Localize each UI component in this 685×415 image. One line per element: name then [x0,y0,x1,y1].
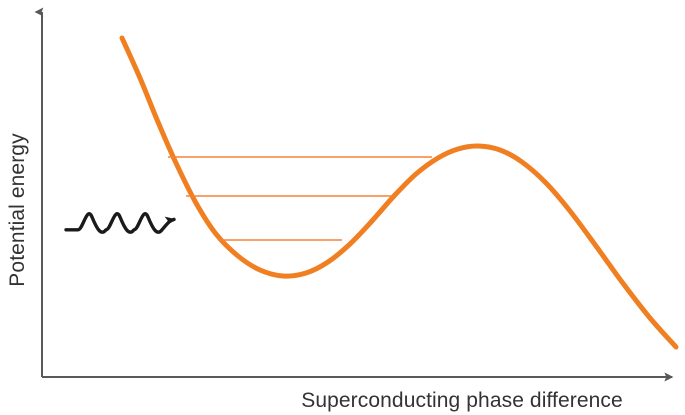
photon-wave-path [66,214,174,232]
figure-canvas: Potential energy Superconducting phase d… [0,0,685,415]
y-axis-label: Potential energy [6,133,29,287]
potential-energy-figure: Potential energy Superconducting phase d… [0,0,685,415]
wavy-photon-arrow [66,214,174,232]
x-axis-label: Superconducting phase difference [301,389,623,412]
potential-energy-curve [122,38,676,347]
